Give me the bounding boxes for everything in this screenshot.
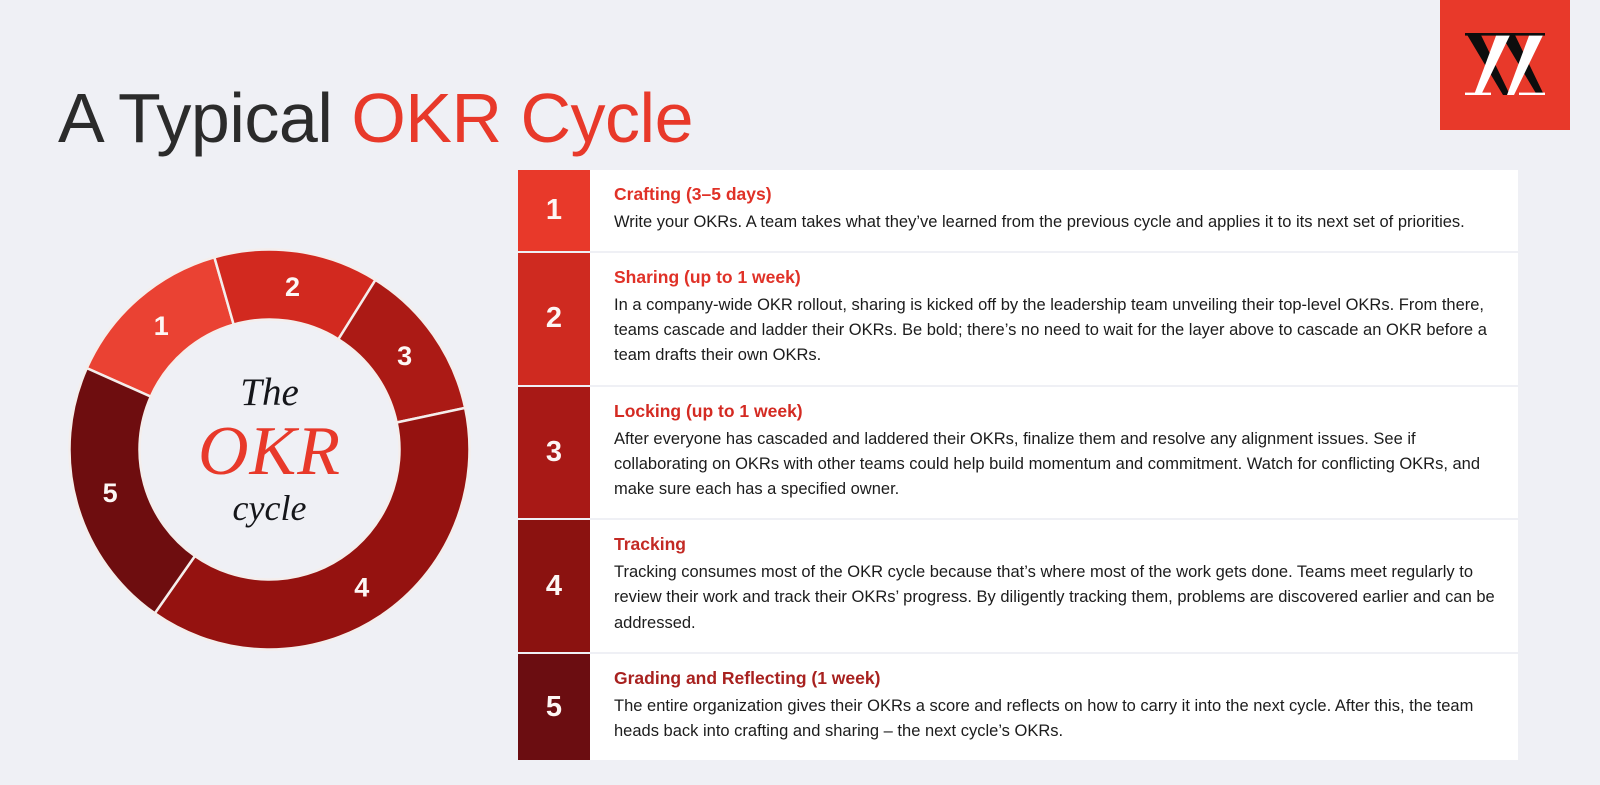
page-title: A Typical OKR Cycle: [58, 83, 693, 153]
step-number-badge-5: 5: [518, 654, 590, 760]
step-body: Grading and Reflecting (1 week)The entir…: [590, 654, 1518, 760]
step-row: 2Sharing (up to 1 week)In a company-wide…: [518, 253, 1518, 387]
wheel-segment-group: [69, 249, 469, 649]
step-body: Locking (up to 1 week)After everyone has…: [590, 387, 1518, 519]
step-number-badge-4: 4: [518, 520, 590, 652]
step-heading: Sharing (up to 1 week): [614, 267, 1496, 289]
step-row: 5Grading and Reflecting (1 week)The enti…: [518, 654, 1518, 760]
step-number-badge-1: 1: [518, 170, 590, 251]
wheel-number-4: 4: [354, 572, 369, 602]
wheel-number-2: 2: [285, 272, 300, 302]
step-heading: Grading and Reflecting (1 week): [614, 668, 1496, 690]
step-row: 4TrackingTracking consumes most of the O…: [518, 520, 1518, 654]
step-description: Tracking consumes most of the OKR cycle …: [614, 560, 1496, 636]
step-description: After everyone has cascaded and laddered…: [614, 427, 1496, 503]
wheel-number-3: 3: [397, 341, 412, 371]
step-body: Crafting (3–5 days)Write your OKRs. A te…: [590, 170, 1518, 251]
step-row: 3Locking (up to 1 week)After everyone ha…: [518, 387, 1518, 521]
page-title-plain: A Typical: [58, 79, 351, 157]
step-heading: Locking (up to 1 week): [614, 401, 1496, 423]
wheel-segment-5: [69, 368, 194, 613]
page-title-accent: OKR Cycle: [351, 79, 693, 157]
step-number-badge-3: 3: [518, 387, 590, 519]
step-row: 1Crafting (3–5 days)Write your OKRs. A t…: [518, 170, 1518, 253]
page-header: A Typical OKR Cycle: [0, 0, 1600, 150]
step-body: Sharing (up to 1 week)In a company-wide …: [590, 253, 1518, 385]
step-description: The entire organization gives their OKRs…: [614, 694, 1496, 744]
step-heading: Crafting (3–5 days): [614, 184, 1496, 206]
step-heading: Tracking: [614, 534, 1496, 556]
wheel-segment-4: [155, 408, 470, 650]
step-number-badge-2: 2: [518, 253, 590, 385]
step-description: In a company-wide OKR rollout, sharing i…: [614, 293, 1496, 369]
step-body: TrackingTracking consumes most of the OK…: [590, 520, 1518, 652]
whatmatters-logo: [1440, 0, 1570, 130]
okr-cycle-wheel: 12345 The OKR cycle: [62, 242, 477, 657]
wheel-number-5: 5: [103, 478, 118, 508]
wheel-number-1: 1: [154, 311, 169, 341]
okr-steps-panel: 1Crafting (3–5 days)Write your OKRs. A t…: [518, 170, 1518, 760]
step-description: Write your OKRs. A team takes what they’…: [614, 210, 1496, 235]
